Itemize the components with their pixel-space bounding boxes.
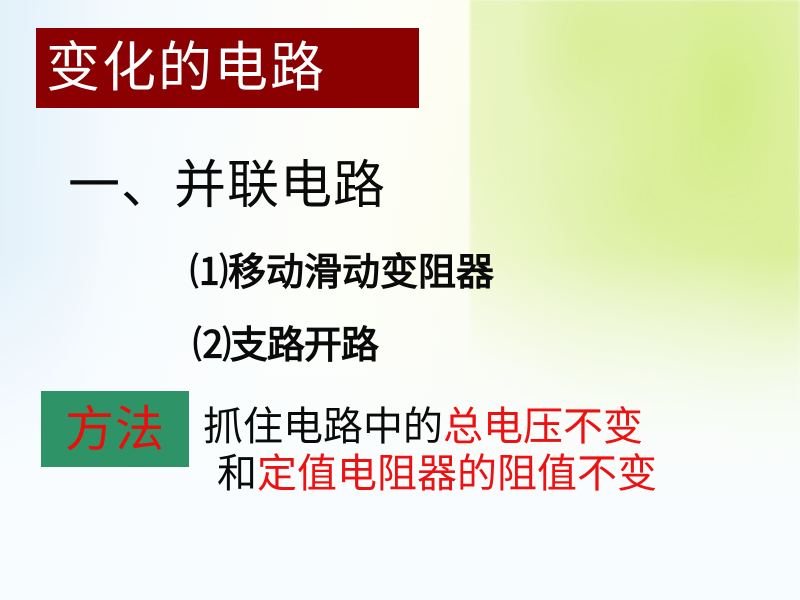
method-line-1-highlight: 总电压不变	[443, 404, 643, 450]
method-callout-box: 方法	[41, 391, 189, 467]
sub-item-1: ⑴移动滑动变阻器	[190, 251, 494, 293]
sub-item-2: ⑵支路开路	[193, 325, 378, 367]
title-banner: 变化的电路	[36, 28, 419, 108]
method-callout-label: 方法	[65, 405, 165, 454]
method-line-2: 和定值电阻器的阻值不变	[203, 451, 783, 498]
slide-content: 变化的电路 一、并联电路 ⑴移动滑动变阻器 ⑵支路开路 方法 抓住电路中的总电压…	[0, 0, 800, 600]
method-line-2-highlight: 定值电阻器的阻值不变	[257, 451, 657, 497]
method-body-text: 抓住电路中的总电压不变 和定值电阻器的阻值不变	[203, 404, 783, 498]
slide-title: 变化的电路	[46, 41, 326, 95]
method-line-2-plain: 和	[217, 451, 257, 497]
method-line-1: 抓住电路中的总电压不变	[203, 404, 783, 451]
slide-canvas: 变化的电路 一、并联电路 ⑴移动滑动变阻器 ⑵支路开路 方法 抓住电路中的总电压…	[0, 0, 800, 600]
method-line-1-plain: 抓住电路中的	[203, 404, 443, 450]
section-heading: 一、并联电路	[68, 158, 386, 215]
